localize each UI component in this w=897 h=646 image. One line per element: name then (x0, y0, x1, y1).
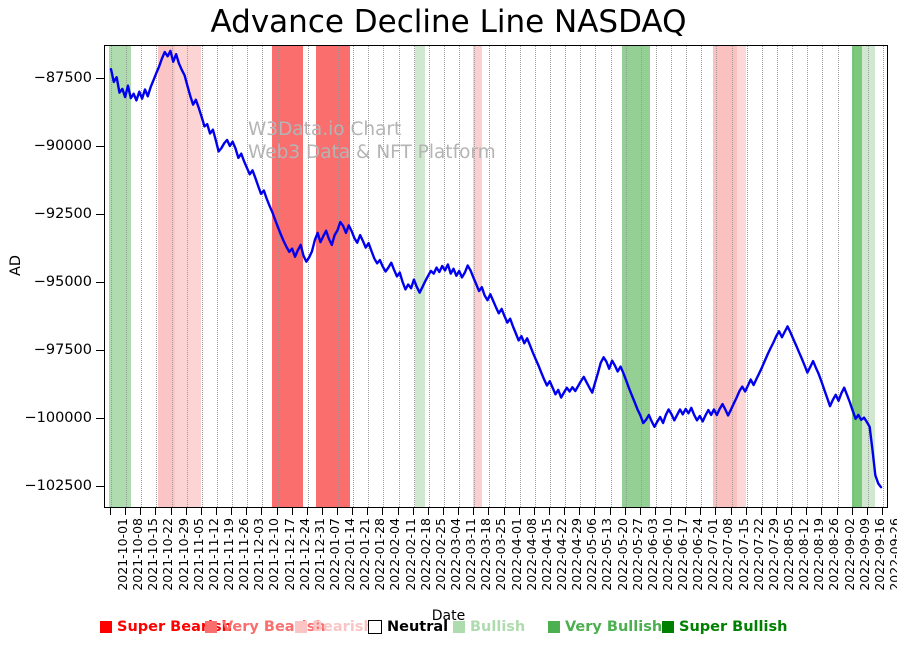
x-tick (171, 508, 172, 515)
x-tick-label: 2022-05-20 (615, 518, 630, 591)
x-tick (534, 508, 535, 515)
x-tick-label: 2021-10-22 (160, 518, 175, 591)
x-tick (367, 508, 368, 515)
legend-swatch (205, 621, 217, 633)
x-tick-label: 2022-07-08 (720, 518, 735, 591)
x-tick (610, 508, 611, 515)
x-tick (261, 508, 262, 515)
legend-item[interactable]: Neutral (368, 619, 448, 635)
legend-swatch (368, 620, 382, 634)
x-tick (564, 508, 565, 515)
x-tick-label: 2022-07-01 (705, 518, 720, 591)
x-tick (519, 508, 520, 515)
x-tick-label: 2022-03-25 (493, 518, 508, 591)
x-tick-label: 2022-07-22 (751, 518, 766, 591)
x-tick-label: 2022-08-12 (796, 518, 811, 591)
x-tick (246, 508, 247, 515)
legend-item[interactable]: Very Bullish (548, 619, 662, 635)
x-tick (155, 508, 156, 515)
x-tick (231, 508, 232, 515)
x-tick-label: 2022-04-01 (509, 518, 524, 591)
x-tick (791, 508, 792, 515)
x-tick-label: 2022-01-14 (342, 518, 357, 591)
x-tick-label: 2022-06-10 (660, 518, 675, 591)
x-tick-label: 2021-10-29 (176, 518, 191, 591)
x-tick (125, 508, 126, 515)
x-tick (837, 508, 838, 515)
y-tick-label: −90000 (0, 138, 92, 154)
y-tick-label: −95000 (0, 274, 92, 290)
x-tick-label: 2022-09-26 (887, 518, 897, 591)
chart-legend: Super BearishVery BearishBearishNeutralB… (0, 619, 897, 641)
x-tick-label: 2021-11-26 (236, 518, 251, 591)
x-tick (731, 508, 732, 515)
x-tick (504, 508, 505, 515)
x-tick-label: 2022-09-16 (872, 518, 887, 591)
x-tick-label: 2021-11-12 (206, 518, 221, 591)
x-tick-label: 2022-09-09 (857, 518, 872, 591)
x-tick (715, 508, 716, 515)
y-tick-label: −92500 (0, 206, 92, 222)
y-tick-label: −100000 (0, 410, 92, 426)
x-tick (216, 508, 217, 515)
x-tick (882, 508, 883, 515)
x-tick (700, 508, 701, 515)
x-tick (307, 508, 308, 515)
x-tick-label: 2022-08-26 (826, 518, 841, 591)
x-tick-label: 2022-05-13 (599, 518, 614, 591)
legend-swatch (453, 621, 465, 633)
chart-page: Advance Decline Line NASDAQ AD Date 2022… (0, 0, 897, 646)
y-tick (96, 146, 104, 147)
legend-swatch (100, 621, 112, 633)
x-tick (337, 508, 338, 515)
x-tick-label: 2022-03-04 (448, 518, 463, 591)
x-tick (776, 508, 777, 515)
legend-item[interactable]: Bearish (295, 619, 374, 635)
x-tick (292, 508, 293, 515)
legend-item[interactable]: Super Bullish (662, 619, 787, 635)
x-tick-label: 2022-02-04 (387, 518, 402, 591)
x-tick (428, 508, 429, 515)
x-tick-label: 2022-08-05 (781, 518, 796, 591)
x-tick-label: 2022-07-29 (766, 518, 781, 591)
legend-label: Bearish (312, 619, 374, 635)
y-tick (96, 78, 104, 79)
x-tick (473, 508, 474, 515)
y-tick-label: −102500 (0, 478, 92, 494)
x-tick-label: 2022-04-29 (569, 518, 584, 591)
y-tick (96, 486, 104, 487)
x-tick-label: 2022-05-06 (584, 518, 599, 591)
x-tick (821, 508, 822, 515)
x-tick (867, 508, 868, 515)
y-tick-label: −97500 (0, 342, 92, 358)
y-tick-label: −87500 (0, 70, 92, 86)
x-tick (201, 508, 202, 515)
x-tick (549, 508, 550, 515)
x-tick-label: 2022-06-24 (690, 518, 705, 591)
legend-label: Super Bullish (679, 619, 787, 635)
x-tick-label: 2022-08-19 (811, 518, 826, 591)
y-tick (96, 418, 104, 419)
legend-label: Neutral (387, 619, 448, 635)
x-tick (806, 508, 807, 515)
x-tick (746, 508, 747, 515)
y-tick (96, 214, 104, 215)
x-tick-label: 2022-04-15 (539, 518, 554, 591)
legend-swatch (548, 621, 560, 633)
x-tick-label: 2022-01-21 (357, 518, 372, 591)
x-tick (398, 508, 399, 515)
x-tick (186, 508, 187, 515)
x-tick (488, 508, 489, 515)
x-tick-label: 2022-05-27 (630, 518, 645, 591)
x-tick-label: 2022-02-25 (433, 518, 448, 591)
legend-item[interactable]: Bullish (453, 619, 525, 635)
x-tick-label: 2022-06-03 (645, 518, 660, 591)
x-tick-label: 2021-12-31 (312, 518, 327, 591)
x-tick (655, 508, 656, 515)
x-tick (852, 508, 853, 515)
x-tick (413, 508, 414, 515)
x-tick-label: 2021-10-15 (145, 518, 160, 591)
plot-area[interactable]: W3Data.io Chart Web3 Data & NFT Platform (104, 45, 888, 508)
x-tick-label: 2022-04-22 (554, 518, 569, 591)
x-tick (140, 508, 141, 515)
x-tick-label: 2022-04-08 (524, 518, 539, 591)
page-title: Advance Decline Line NASDAQ (0, 4, 897, 40)
x-tick (458, 508, 459, 515)
legend-label: Bullish (470, 619, 525, 635)
x-tick-label: 2022-09-02 (842, 518, 857, 591)
x-tick (322, 508, 323, 515)
x-tick-label: 2022-02-11 (403, 518, 418, 591)
x-tick-label: 2022-03-18 (478, 518, 493, 591)
x-tick (761, 508, 762, 515)
legend-swatch (295, 621, 307, 633)
x-tick-label: 2021-11-05 (191, 518, 206, 591)
x-tick (670, 508, 671, 515)
x-tick (382, 508, 383, 515)
x-tick (625, 508, 626, 515)
x-tick-label: 2021-10-01 (115, 518, 130, 591)
x-tick (640, 508, 641, 515)
x-tick-label: 2021-12-10 (266, 518, 281, 591)
x-tick (594, 508, 595, 515)
x-tick-label: 2022-01-07 (327, 518, 342, 591)
x-tick-label: 2022-01-28 (372, 518, 387, 591)
x-tick-label: 2021-10-08 (130, 518, 145, 591)
x-tick-label: 2022-06-17 (675, 518, 690, 591)
y-axis-title: AD (8, 255, 24, 276)
x-tick (579, 508, 580, 515)
ad-line-series (105, 46, 887, 508)
x-tick (277, 508, 278, 515)
x-tick-label: 2022-07-15 (736, 518, 751, 591)
x-tick (352, 508, 353, 515)
x-tick-label: 2021-12-24 (297, 518, 312, 591)
x-tick (685, 508, 686, 515)
legend-label: Very Bullish (565, 619, 662, 635)
x-tick (110, 508, 111, 515)
x-tick-label: 2021-11-19 (221, 518, 236, 591)
x-tick-label: 2022-02-18 (418, 518, 433, 591)
legend-swatch (662, 621, 674, 633)
x-tick-label: 2021-12-03 (251, 518, 266, 591)
y-tick (96, 350, 104, 351)
x-tick-label: 2022-03-11 (463, 518, 478, 591)
x-tick (443, 508, 444, 515)
y-tick (96, 282, 104, 283)
x-tick-label: 2021-12-17 (282, 518, 297, 591)
